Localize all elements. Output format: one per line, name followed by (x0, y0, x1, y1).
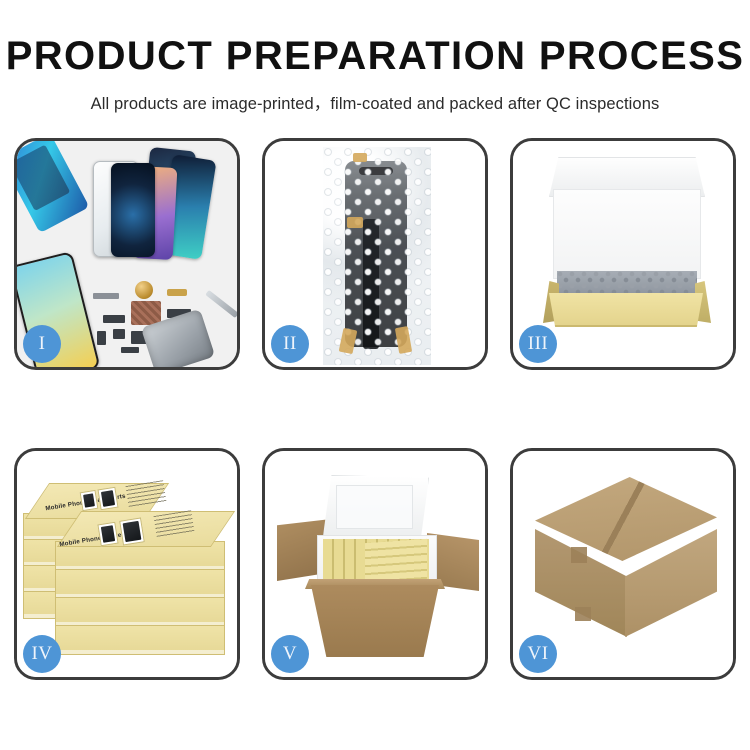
step-badge-4: IV (23, 635, 61, 673)
step-panel-3[interactable]: III (510, 138, 736, 370)
step-panel-6[interactable]: VI (510, 448, 736, 680)
box-spec-lines-left (126, 480, 167, 508)
step-panel-1[interactable]: I (14, 138, 240, 370)
box-window-left-b (97, 487, 118, 511)
step-panel-5[interactable]: V (262, 448, 488, 680)
bubble-wrap-bag (323, 147, 431, 365)
foam-sheet (553, 189, 701, 279)
step-4-illustration: Mobile Phone Spare Parts Mobile Phone Sp… (17, 451, 237, 677)
page-title: PRODUCT PREPARATION PROCESS (0, 36, 750, 76)
step-badge-1: I (23, 325, 61, 363)
tape-piece-top (353, 153, 367, 162)
phone-display-dark (111, 163, 155, 257)
stacked-box-front-2 (55, 569, 225, 599)
page-subtitle: All products are image-printed，film-coat… (0, 90, 750, 114)
step-5-illustration: V (265, 451, 485, 677)
bubble-texture (323, 147, 431, 365)
step-1-illustration: I (17, 141, 237, 367)
sim-tray-chip (97, 331, 106, 345)
speaker-coil-icon (135, 281, 153, 299)
step-badge-5: V (271, 635, 309, 673)
step-badge-2: II (271, 325, 309, 363)
step-3-illustration: III (513, 141, 733, 367)
button-chip (113, 329, 125, 339)
flex-cable-chip (103, 315, 125, 323)
box-front-panel (549, 293, 703, 327)
foam-box-lid (323, 475, 429, 541)
process-steps-grid: I II III (14, 138, 736, 680)
stacked-box-front-3 (55, 597, 225, 627)
step-panel-2[interactable]: II (262, 138, 488, 370)
carton-tab-lower (575, 607, 591, 621)
header: PRODUCT PREPARATION PROCESS All products… (0, 0, 750, 114)
yellow-boxes-stack (365, 539, 427, 583)
tape-piece-middle (347, 217, 363, 228)
box-window-right-b (119, 517, 145, 545)
box-window-right-a (97, 522, 118, 547)
step-6-illustration: VI (513, 451, 733, 677)
phone-battery-adhesive (17, 141, 89, 233)
carton-tab-upper (571, 547, 587, 563)
gold-connector-chip (167, 289, 187, 296)
step-badge-6: VI (519, 635, 557, 673)
step-2-illustration: II (265, 141, 485, 367)
step-panel-4[interactable]: Mobile Phone Spare Parts Mobile Phone Sp… (14, 448, 240, 680)
step-badge-3: III (519, 325, 557, 363)
metal-bracket-chip (93, 293, 119, 299)
carton-front-panel (311, 585, 439, 657)
speaker-mesh-chip (121, 347, 139, 353)
box-window-left-a (80, 490, 99, 511)
stacked-box-front-4 (55, 625, 225, 655)
